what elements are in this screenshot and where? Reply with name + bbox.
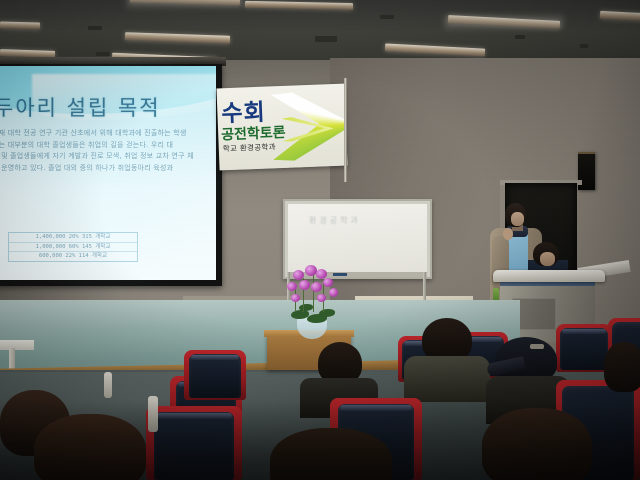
- audience-head: [34, 414, 146, 480]
- seat[interactable]: [184, 350, 246, 400]
- ceiling-light: [600, 11, 640, 21]
- seat-armrest: [104, 372, 112, 398]
- lecture-hall-photo: 두아리 설립 목적 현재 대학 전공 연구 기관 산초에서 위해 대학과에 진출…: [0, 0, 640, 480]
- ceiling-light: [385, 43, 485, 56]
- slide-body-text: 현재 대학 전공 연구 기관 산초에서 위해 대학과에 진출하는 학생 고는 대…: [0, 128, 214, 174]
- ceiling-light: [0, 21, 40, 29]
- lectern-top: [493, 270, 605, 282]
- slide-table-row: 1,000,000 60% 145 개학교: [9, 243, 137, 253]
- slide-body-line: 행 및 졸업생들에게 자기 계발과 진로 모색, 취업 정보 교차 연구 체: [0, 151, 214, 163]
- slide-body-line: 로 운영하고 있다. 졸업 대외 중의 하나가 취업동아리 육성과: [0, 163, 214, 175]
- ceiling-vent: [96, 52, 110, 56]
- banner-subline: 공전학토론: [221, 122, 286, 144]
- presenter-face: [511, 212, 524, 226]
- cap-logo: [530, 344, 544, 349]
- seat-armrest: [148, 396, 158, 432]
- audience-body: [404, 356, 490, 402]
- banner-footline: 학교 환경공학과: [223, 141, 276, 154]
- ceiling-vent: [315, 36, 337, 42]
- slide-table-row: 1,400,000 20% 315 개학교: [9, 233, 137, 243]
- seated-panelist-face: [540, 252, 555, 266]
- banner-pole: [344, 78, 347, 182]
- whiteboard-writing: 환경공학과: [309, 215, 361, 226]
- lectern-accent-band: [500, 282, 595, 286]
- audience-head: [482, 408, 592, 480]
- event-banner: 수회 공전학토론 학교 환경공학과: [216, 84, 347, 171]
- presenter-hand: [503, 228, 513, 240]
- ceiling-light: [245, 1, 353, 10]
- audience-head: [270, 428, 392, 480]
- slide-body-line: 고는 대부분의 대학 졸업생들은 취업의 길을 걷는다. 우리 대: [0, 140, 214, 152]
- ceiling-vent: [88, 26, 102, 30]
- slide-title: 두아리 설립 목적: [0, 92, 161, 122]
- slide-table-row: 600,000 22% 114 개학교: [9, 252, 137, 261]
- seat[interactable]: [146, 406, 242, 480]
- audience-head: [604, 342, 640, 392]
- side-table-top[interactable]: [0, 340, 34, 350]
- orchid-plant: [283, 262, 345, 324]
- ceiling-vent: [380, 15, 394, 19]
- ceiling-light: [125, 32, 230, 44]
- ceiling-vent: [515, 35, 525, 39]
- slide-table: 1,400,000 20% 315 개학교 1,000,000 60% 145 …: [8, 232, 138, 262]
- ceiling-vent: [580, 44, 588, 48]
- slide-body-line: 현재 대학 전공 연구 기관 산초에서 위해 대학과에 진출하는 학생: [0, 128, 214, 140]
